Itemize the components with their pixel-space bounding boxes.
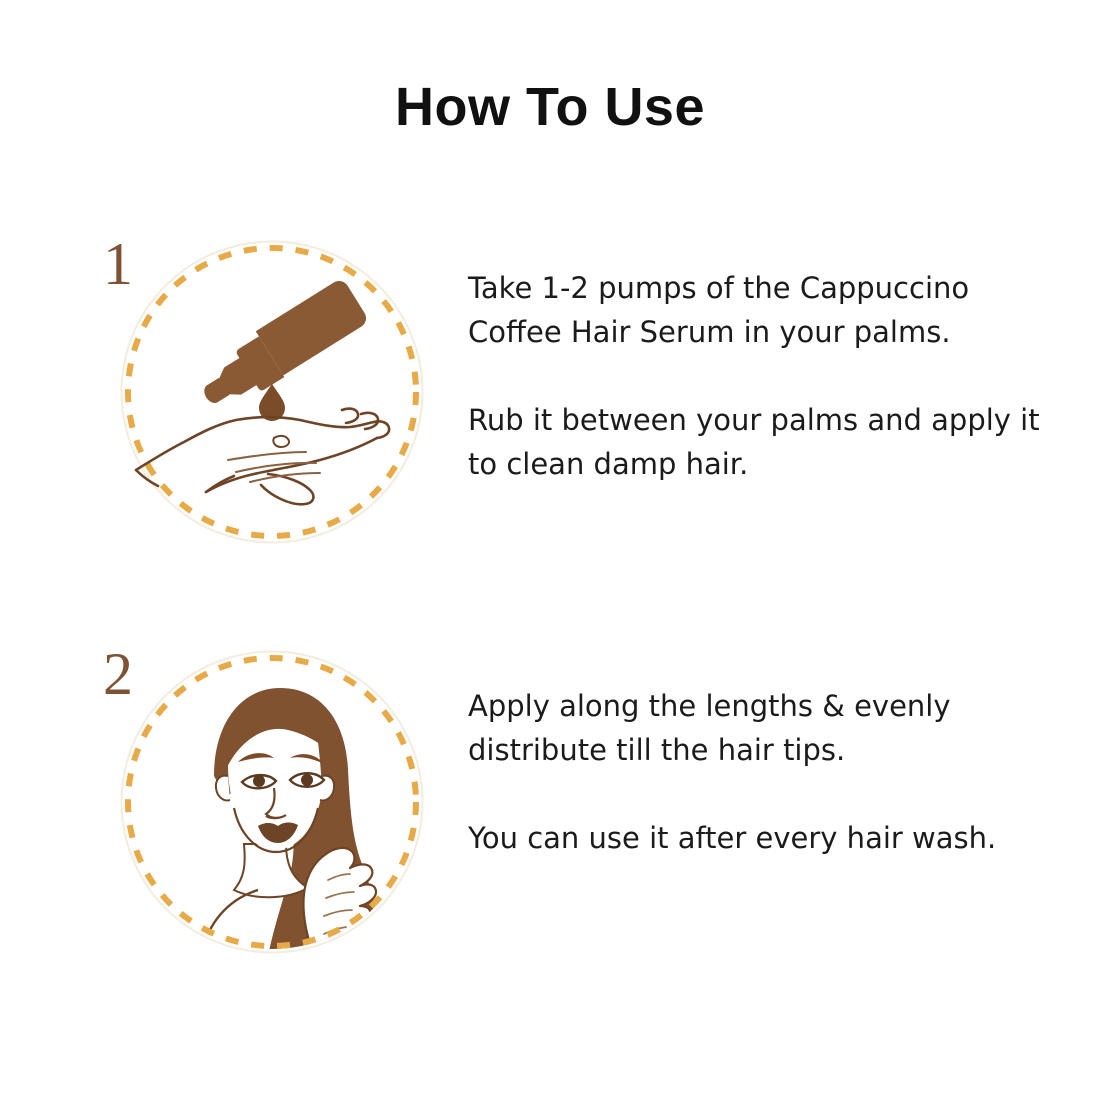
step-2-paragraph-2: You can use it after every hair wash. xyxy=(468,816,1048,860)
step-1-paragraph-1: Take 1-2 pumps of the Cappuccino Coffee … xyxy=(468,266,1048,354)
how-to-use-infographic: How To Use 1 xyxy=(0,0,1100,1100)
open-palm-icon xyxy=(136,409,389,505)
step-2-text: Apply along the lengths & evenly distrib… xyxy=(468,684,1048,860)
woman-applying-serum-icon xyxy=(202,688,380,956)
step-1-text: Take 1-2 pumps of the Cappuccino Coffee … xyxy=(468,266,1048,486)
step-1-paragraph-2: Rub it between your palms and apply it t… xyxy=(468,398,1048,486)
step-2-illustration xyxy=(118,648,426,956)
step-2-paragraph-1: Apply along the lengths & evenly distrib… xyxy=(468,684,1048,772)
step-1-illustration xyxy=(118,238,426,546)
page-title: How To Use xyxy=(0,78,1100,137)
